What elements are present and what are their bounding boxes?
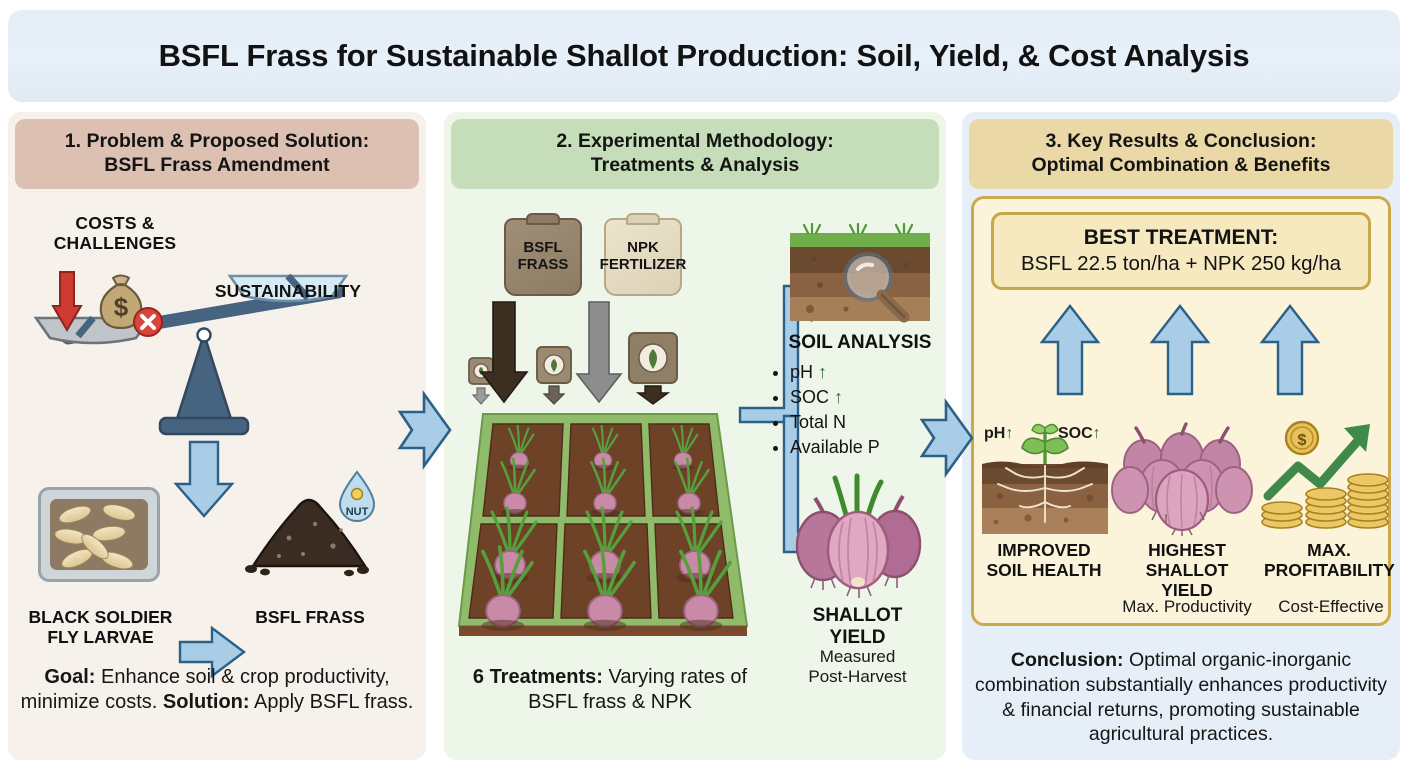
ph-metric-label: pH↑ (984, 425, 1013, 443)
coin-stack-large (1348, 474, 1388, 528)
balance-scale-icon (8, 112, 426, 760)
ph-text: pH (984, 425, 1005, 442)
solution-text: Apply BSFL frass. (250, 691, 414, 713)
infographic-canvas: BSFL Frass for Sustainable Shallot Produ… (0, 0, 1408, 768)
svg-text:$: $ (114, 292, 129, 322)
costs-challenges-label: COSTS & CHALLENGES (30, 213, 200, 253)
soil-metric-item: pH ↑ (790, 362, 970, 383)
soc-metric-label: SOC↑ (1058, 425, 1101, 443)
panel3-footnote: Conclusion: Optimal organic-inorganic co… (970, 648, 1392, 747)
best-treatment-box: BEST TREATMENT: BSFL 22.5 ton/ha + NPK 2… (991, 212, 1371, 290)
up-arrow-soil-health (1042, 306, 1098, 394)
red-down-arrow-icon (52, 270, 82, 332)
bsfl-frass-label: BSFL FRASS (235, 607, 385, 627)
mini-sack-medium (537, 347, 571, 404)
connector-arrow-2-to-3 (920, 400, 974, 476)
nutrient-droplet-icon: NUT (336, 470, 378, 522)
svg-text:$: $ (1298, 432, 1307, 449)
sack-npk-label: NPK FERTILIZER (600, 240, 687, 274)
sack-bsfl-frass-label: BSFL FRASS (518, 240, 569, 274)
coin-stack-medium (1306, 488, 1346, 528)
black-soldier-fly-larvae-label: BLACK SOLDIER FLY LARVAE (18, 607, 183, 647)
page-title: BSFL Frass for Sustainable Shallot Produ… (159, 38, 1250, 74)
improved-soil-health-label: IMPROVED SOIL HEALTH (978, 540, 1110, 580)
soil-metric-name: SOC (790, 387, 829, 407)
soil-profile-icon (790, 225, 930, 325)
shallot-pile-icon (1118, 424, 1246, 536)
up-arrow-icon: ↑ (834, 387, 843, 407)
up-arrow-profitability (1262, 306, 1318, 394)
solution-prefix: Solution: (163, 691, 250, 713)
goal-prefix: Goal: (44, 666, 95, 688)
shallot-bulbs-icon (785, 470, 933, 600)
soil-metric-name: Total N (790, 412, 846, 432)
dose-arrow-frass-high (481, 302, 527, 402)
panel3-heading: 3. Key Results & Conclusion: Optimal Com… (969, 119, 1393, 189)
best-treatment-label: BEST TREATMENT: (1084, 226, 1278, 250)
coin-stacks-icon: $ (1258, 418, 1394, 536)
sack-npk-fertilizer: NPK FERTILIZER (604, 218, 682, 296)
panel2-footnote: 6 Treatments: Varying rates of BSFL fras… (455, 665, 765, 716)
coin-stack-small (1262, 502, 1302, 528)
up-arrow-yield (1152, 306, 1208, 394)
max-profitability-label: MAX. PROFITABILITY (1264, 540, 1394, 580)
shallot-yield-sublabel: Measured Post-Harvest (775, 647, 940, 688)
benefit-up-arrows (1040, 300, 1340, 396)
red-x-icon (132, 306, 164, 338)
sustainability-label: SUSTAINABILITY (198, 281, 378, 301)
flow-arrow-down (176, 442, 232, 516)
up-arrow-icon: ↑ (818, 362, 827, 382)
dose-arrow-npk (577, 302, 621, 402)
soil-metric-name: pH (790, 362, 813, 382)
soc-text: SOC (1058, 425, 1093, 442)
soil-metric-name: Available P (790, 437, 880, 457)
infographic-title-bar: BSFL Frass for Sustainable Shallot Produ… (8, 10, 1400, 102)
panel2-heading: 2. Experimental Methodology: Treatments … (451, 119, 939, 189)
dollar-coin-badge: $ (1286, 422, 1318, 454)
connector-arrow-1-to-2 (398, 392, 452, 468)
sack-bsfl-frass: BSFL FRASS (504, 218, 582, 296)
larvae-tray-icon (38, 487, 160, 582)
conclusion-prefix: Conclusion: (1011, 649, 1124, 671)
cost-effective-sublabel: Cost-Effective (1266, 597, 1396, 617)
treatments-prefix: 6 Treatments: (473, 666, 603, 688)
max-productivity-sublabel: Max. Productivity (1108, 597, 1266, 617)
highest-shallot-yield-label: HIGHEST SHALLOT YIELD (1124, 540, 1250, 600)
best-treatment-value: BSFL 22.5 ton/ha + NPK 250 kg/ha (1021, 252, 1341, 276)
panel1-footnote: Goal: Enhance soil & crop productivity, … (20, 665, 414, 716)
soil-analysis-label: SOIL ANALYSIS (770, 332, 950, 354)
mini-sack-large (629, 333, 677, 404)
svg-text:NUT: NUT (346, 506, 369, 518)
shallot-yield-label: SHALLOT YIELD (775, 605, 940, 649)
